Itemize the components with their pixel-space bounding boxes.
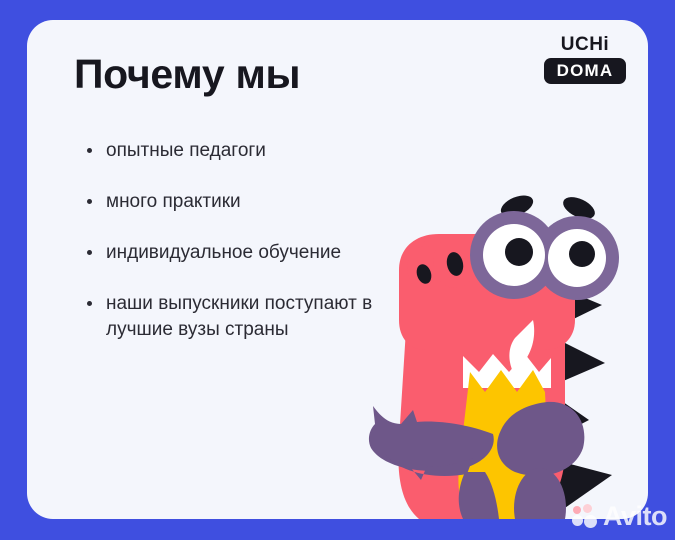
dino-pupil-right (569, 241, 595, 267)
benefits-list: опытные педагоги много практики индивиду… (87, 138, 387, 368)
logo-word-uchi: UCHi (544, 34, 626, 55)
avito-wordmark: Avito (603, 503, 667, 530)
list-item-label: индивидуальное обучение (106, 240, 341, 266)
list-item-label: много практики (106, 189, 241, 215)
list-item: много практики (87, 189, 387, 215)
bullet-dot-icon (87, 250, 92, 255)
logo-pill-doma: DOMA (544, 58, 626, 84)
bullet-dot-icon (87, 301, 92, 306)
page-title: Почему мы (74, 50, 300, 98)
list-item: наши выпускники поступают в лучшие вузы … (87, 291, 387, 343)
uchi-doma-logo: UCHi DOMA (544, 34, 626, 84)
bullet-dot-icon (87, 199, 92, 204)
content-card: UCHi DOMA Почему мы опытные педагоги мно… (27, 20, 648, 519)
list-item: опытные педагоги (87, 138, 387, 164)
list-item-label: наши выпускники поступают в лучшие вузы … (106, 291, 387, 343)
avito-dots-icon (572, 504, 600, 530)
list-item: индивидуальное обучение (87, 240, 387, 266)
dino-pupil-left (505, 238, 533, 266)
list-item-label: опытные педагоги (106, 138, 266, 164)
avito-watermark: Avito (572, 503, 667, 530)
bullet-dot-icon (87, 148, 92, 153)
poster-root: UCHi DOMA Почему мы опытные педагоги мно… (0, 0, 675, 540)
